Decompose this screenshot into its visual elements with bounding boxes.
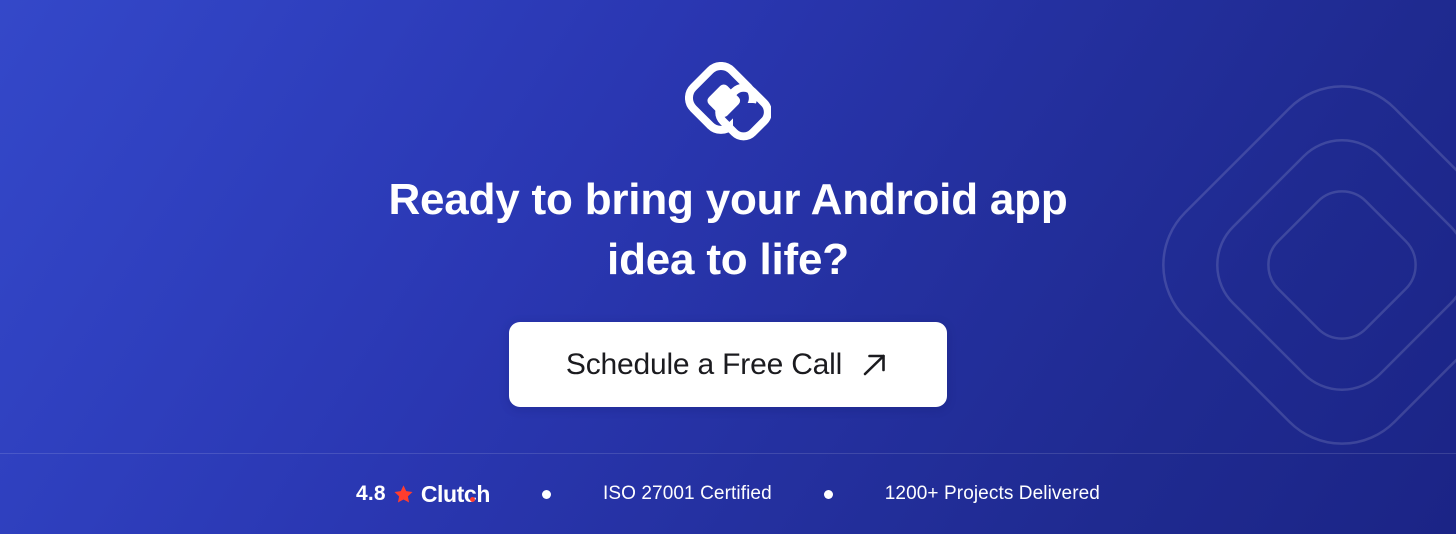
trust-bar: 4.8 Clutch ISO 27001 Certified 1200+ Pro… bbox=[0, 454, 1456, 534]
trust-item-projects: 1200+ Projects Delivered bbox=[885, 483, 1100, 505]
separator-dot-icon bbox=[824, 490, 833, 499]
trust-item-iso: ISO 27001 Certified bbox=[603, 483, 772, 505]
clutch-score: 4.8 bbox=[356, 482, 386, 506]
cta-banner: Ready to bring your Android app idea to … bbox=[0, 0, 1456, 534]
schedule-call-button[interactable]: Schedule a Free Call bbox=[509, 322, 947, 407]
headline-line-2: idea to life? bbox=[388, 230, 1067, 290]
clutch-dot-icon bbox=[470, 497, 475, 502]
star-icon bbox=[393, 484, 414, 505]
cta-content: Ready to bring your Android app idea to … bbox=[0, 0, 1456, 454]
separator-dot-icon bbox=[542, 490, 551, 499]
headline-line-1: Ready to bring your Android app bbox=[388, 170, 1067, 230]
arrow-up-right-icon bbox=[860, 350, 890, 380]
schedule-call-label: Schedule a Free Call bbox=[566, 348, 842, 382]
clutch-wordmark: Clutch bbox=[421, 481, 490, 508]
page-title: Ready to bring your Android app idea to … bbox=[388, 170, 1067, 290]
brand-logo bbox=[685, 62, 771, 148]
clutch-rating[interactable]: 4.8 Clutch bbox=[356, 481, 490, 508]
clutch-brand-text: Clutch bbox=[421, 481, 490, 507]
